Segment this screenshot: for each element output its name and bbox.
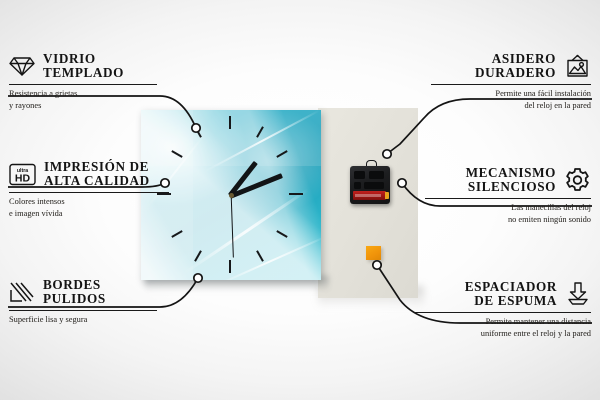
feature-vidrio-templado: VIDRIO TEMPLADO Resistencia a grietas y … xyxy=(9,52,169,112)
feature-divider xyxy=(9,310,157,311)
feature-title: ESPACIADOR DE ESPUMA xyxy=(465,280,557,309)
feature-title: IMPRESIÓN DE ALTA CALIDAD xyxy=(44,160,150,189)
feature-description: Permite mantener una distancia uniforme … xyxy=(415,316,591,340)
feature-divider xyxy=(9,192,169,193)
feature-mecanismo-silencioso: MECANISMO SILENCIOSO Las manecillas del … xyxy=(425,166,591,226)
infographic-canvas: VIDRIO TEMPLADO Resistencia a grietas y … xyxy=(0,0,600,400)
feature-title: MECANISMO SILENCIOSO xyxy=(466,166,556,195)
arrow-down-pad-icon xyxy=(565,282,591,306)
feature-impresion-alta-calidad: ultra HD IMPRESIÓN DE ALTA CALIDAD Color… xyxy=(9,160,181,220)
feature-title: BORDES PULIDOS xyxy=(43,278,106,307)
feature-description: Resistencia a grietas y rayones xyxy=(9,88,169,112)
feature-divider xyxy=(425,198,591,199)
connector-dot-mecanismo xyxy=(398,179,406,187)
feature-description: Las manecillas del reloj no emiten ningú… xyxy=(425,202,591,226)
polished-edges-icon xyxy=(9,281,35,303)
feature-asidero-duradero: ASIDERO DURADERO Permite una fácil insta… xyxy=(431,52,591,112)
connector-dot-asidero xyxy=(383,150,391,158)
feature-title: VIDRIO TEMPLADO xyxy=(43,52,124,81)
feature-divider xyxy=(431,84,591,85)
connector-dot-espaciador xyxy=(373,261,381,269)
gear-icon xyxy=(564,167,591,193)
feature-description: Colores intensos e imagen vívida xyxy=(9,196,181,220)
feature-divider xyxy=(415,312,591,313)
feature-description: Superficie lisa y segura xyxy=(9,314,169,326)
connector-dot-bordes xyxy=(194,274,202,282)
feature-bordes-pulidos: BORDES PULIDOS Superficie lisa y segura xyxy=(9,278,169,326)
picture-frame-hanging-icon xyxy=(564,54,591,78)
ultra-hd-icon: ultra HD xyxy=(9,163,36,186)
feature-description: Permite una fácil instalación del reloj … xyxy=(431,88,591,112)
feature-title: ASIDERO DURADERO xyxy=(475,52,556,81)
diamond-icon xyxy=(9,55,35,77)
connector-dot-vidrio xyxy=(192,124,200,132)
ultra-hd-icon-main-text: HD xyxy=(15,172,31,184)
feature-espaciador-de-espuma: ESPACIADOR DE ESPUMA Permite mantener un… xyxy=(415,280,591,340)
feature-divider xyxy=(9,84,157,85)
